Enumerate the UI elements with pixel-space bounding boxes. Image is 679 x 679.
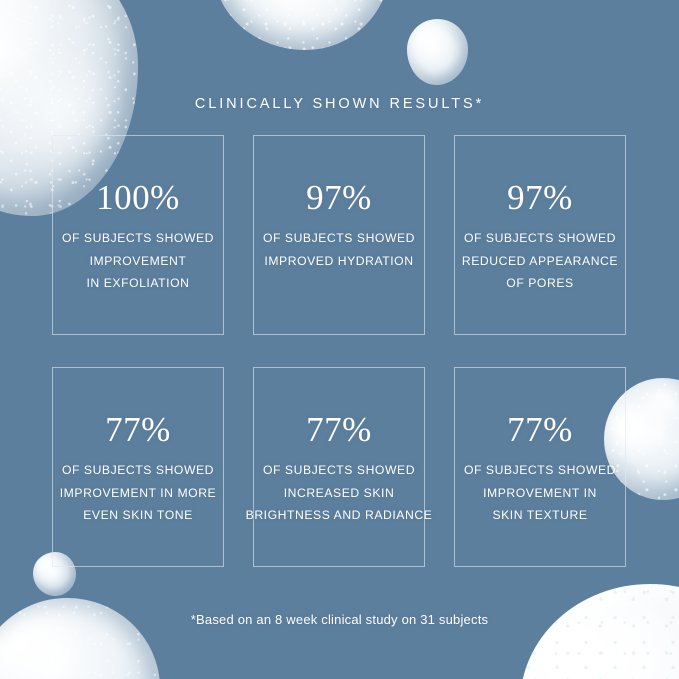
stat-value: 77% xyxy=(507,412,573,447)
stat-value: 77% xyxy=(306,412,372,447)
stat-description-line: OF SUBJECTS SHOWED xyxy=(462,227,618,250)
stat-description-line: OF SUBJECTS SHOWED xyxy=(60,459,217,482)
stats-grid: 100% OF SUBJECTS SHOWED IMPROVEMENT IN E… xyxy=(52,135,627,567)
stat-description-line: IN EXFOLIATION xyxy=(62,272,214,295)
stat-description-line: IMPROVED HYDRATION xyxy=(263,250,415,273)
stat-description: OF SUBJECTS SHOWED INCREASED SKIN BRIGHT… xyxy=(246,459,433,527)
stat-description: OF SUBJECTS SHOWED IMPROVEMENT IN EXFOLI… xyxy=(62,227,214,295)
stat-description: OF SUBJECTS SHOWED IMPROVEMENT IN SKIN T… xyxy=(464,459,616,527)
stat-description-line: BRIGHTNESS AND RADIANCE xyxy=(246,504,433,527)
stat-description: OF SUBJECTS SHOWED REDUCED APPEARANCE OF… xyxy=(462,227,618,295)
stat-description: OF SUBJECTS SHOWED IMPROVEMENT IN MORE E… xyxy=(60,459,217,527)
stat-description-line: OF SUBJECTS SHOWED xyxy=(246,459,433,482)
stat-card-even-skin-tone: 77% OF SUBJECTS SHOWED IMPROVEMENT IN MO… xyxy=(52,367,224,567)
page-title: CLINICALLY SHOWN RESULTS* xyxy=(0,96,679,112)
stat-card-hydration: 97% OF SUBJECTS SHOWED IMPROVED HYDRATIO… xyxy=(253,135,425,335)
stat-description-line: EVEN SKIN TONE xyxy=(60,504,217,527)
stat-description-line: OF SUBJECTS SHOWED xyxy=(62,227,214,250)
footnote-disclaimer: *Based on an 8 week clinical study on 31… xyxy=(0,612,679,627)
stat-value: 97% xyxy=(507,180,573,215)
stat-card-brightness-radiance: 77% OF SUBJECTS SHOWED INCREASED SKIN BR… xyxy=(253,367,425,567)
stat-description-line: OF PORES xyxy=(462,272,618,295)
stat-value: 77% xyxy=(105,412,171,447)
content-layer: CLINICALLY SHOWN RESULTS* 100% OF SUBJEC… xyxy=(0,0,679,679)
stat-description-line: SKIN TEXTURE xyxy=(464,504,616,527)
stat-description-line: INCREASED SKIN xyxy=(246,482,433,505)
stat-value: 97% xyxy=(306,180,372,215)
stat-value: 100% xyxy=(96,180,180,215)
stat-description-line: IMPROVEMENT IN xyxy=(464,482,616,505)
stat-description-line: IMPROVEMENT xyxy=(62,250,214,273)
stat-card-pores: 97% OF SUBJECTS SHOWED REDUCED APPEARANC… xyxy=(454,135,626,335)
stat-description-line: IMPROVEMENT IN MORE xyxy=(60,482,217,505)
stat-card-exfoliation: 100% OF SUBJECTS SHOWED IMPROVEMENT IN E… xyxy=(52,135,224,335)
stat-description-line: REDUCED APPEARANCE xyxy=(462,250,618,273)
stat-description: OF SUBJECTS SHOWED IMPROVED HYDRATION xyxy=(263,227,415,272)
stat-card-skin-texture: 77% OF SUBJECTS SHOWED IMPROVEMENT IN SK… xyxy=(454,367,626,567)
stat-description-line: OF SUBJECTS SHOWED xyxy=(464,459,616,482)
clinical-results-infographic: CLINICALLY SHOWN RESULTS* 100% OF SUBJEC… xyxy=(0,0,679,679)
stat-description-line: OF SUBJECTS SHOWED xyxy=(263,227,415,250)
